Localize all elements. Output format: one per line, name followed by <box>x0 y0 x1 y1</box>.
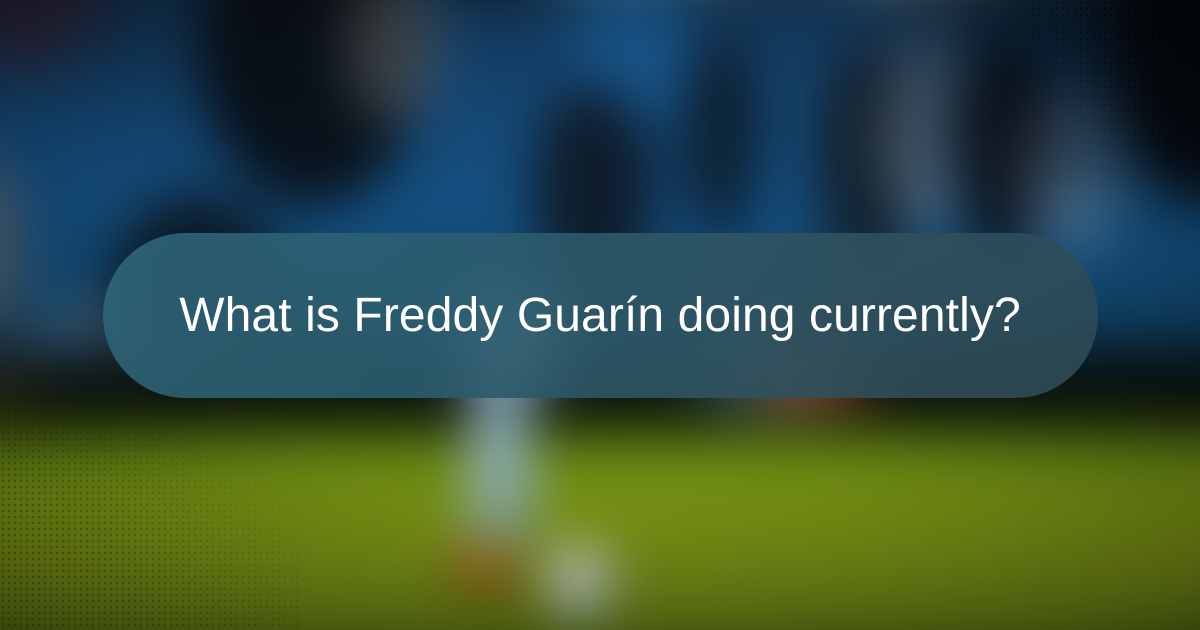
corner-shade-top-right <box>895 0 1200 192</box>
question-card: What is Freddy Guarín doing currently? <box>0 0 1200 630</box>
question-text: What is Freddy Guarín doing currently? <box>179 288 1021 343</box>
question-pill: What is Freddy Guarín doing currently? <box>103 233 1098 398</box>
corner-shade-top-left <box>0 0 198 84</box>
question-pill-container: What is Freddy Guarín doing currently? <box>0 233 1200 398</box>
